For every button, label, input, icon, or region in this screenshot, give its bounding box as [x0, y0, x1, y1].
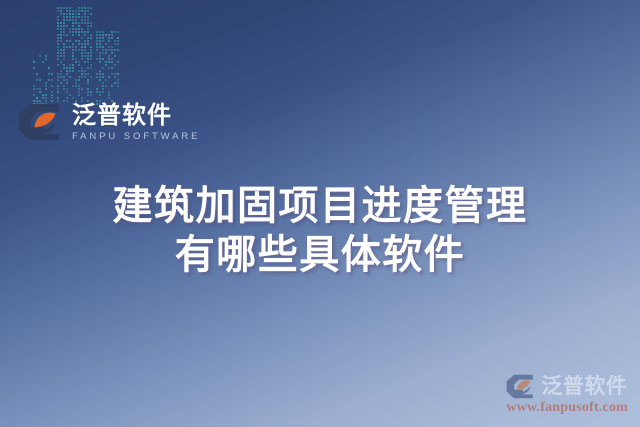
watermark-brand-name: 泛普软件	[541, 376, 627, 397]
brand-name-cn: 泛普软件	[72, 103, 200, 127]
fanpu-logo-mark-watermark-icon	[506, 374, 536, 399]
fanpu-logo-mark-icon	[18, 103, 64, 141]
watermark-url: www.fanpusoft.com	[506, 401, 628, 415]
building-left	[33, 40, 54, 106]
promo-banner: 泛普软件 FANPU SOFTWARE 建筑加固项目进度管理 有哪些具体软件 泛…	[0, 0, 640, 427]
building-right	[96, 31, 120, 106]
building-center	[57, 7, 93, 106]
watermark-logo-row: 泛普软件	[506, 374, 628, 399]
watermark: 泛普软件 www.fanpusoft.com	[506, 374, 628, 415]
page-title: 建筑加固项目进度管理 有哪些具体软件	[0, 182, 640, 280]
brand-name-en: FANPU SOFTWARE	[72, 132, 200, 142]
headline-line-2: 有哪些具体软件	[0, 231, 640, 280]
brand-logo-text: 泛普软件 FANPU SOFTWARE	[72, 103, 200, 142]
brand-logo: 泛普软件 FANPU SOFTWARE	[18, 103, 200, 142]
dot-matrix-buildings-icon	[33, 10, 145, 106]
headline-line-1: 建筑加固项目进度管理	[0, 182, 640, 231]
